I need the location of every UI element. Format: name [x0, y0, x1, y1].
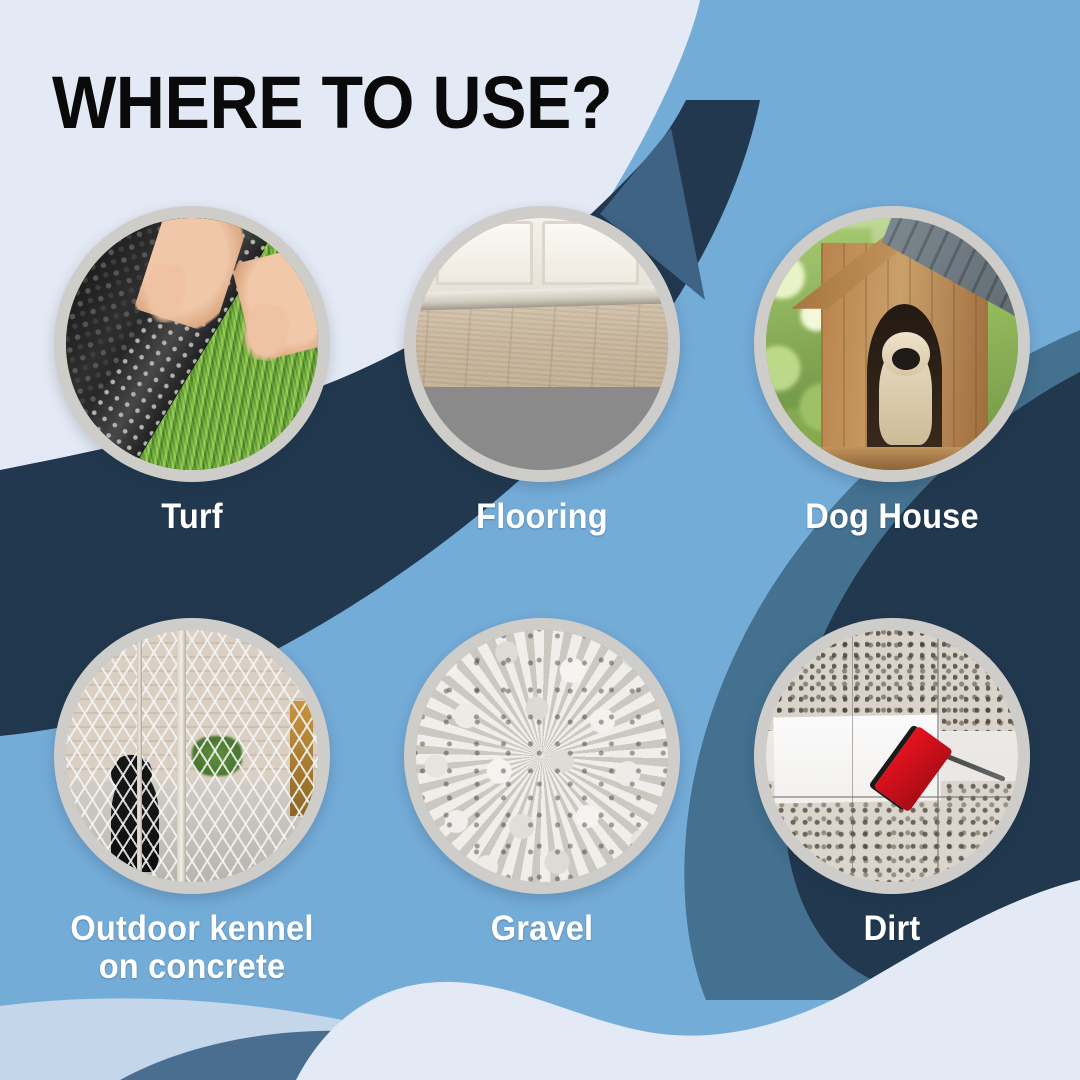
pug-dog	[879, 344, 932, 445]
artificial-turf-with-drainage-mat-photo	[66, 218, 318, 470]
grout-line-vertical-1	[852, 630, 853, 882]
flooring-photo-frame[interactable]	[404, 206, 680, 482]
pug-in-wooden-dog-house-photo	[766, 218, 1018, 470]
use-case-item-gravel[interactable]: Gravel	[362, 618, 722, 948]
gravel-photo-frame[interactable]	[404, 618, 680, 894]
kennel-post-main	[177, 630, 186, 882]
wood-laminate-flooring-photo	[416, 218, 668, 470]
white-cabinets	[416, 218, 668, 296]
dirt-photo-frame[interactable]	[754, 618, 1030, 894]
use-case-label-outdoor-kennel-line1: Outdoor kennel	[25, 910, 360, 948]
dog-house-photo-frame[interactable]	[754, 206, 1030, 482]
use-case-label-outdoor-kennel: Outdoor kennel on concrete	[25, 910, 360, 986]
dog-house-floor-board	[816, 447, 997, 470]
use-case-item-outdoor-kennel[interactable]: Outdoor kennel on concrete	[12, 618, 372, 986]
gravel-shadow-speckle	[416, 630, 668, 882]
outdoor-kennel-photo-frame[interactable]	[54, 618, 330, 894]
use-case-item-dog-house[interactable]: Dog House	[712, 206, 1072, 536]
use-case-label-outdoor-kennel-line2: on concrete	[25, 948, 360, 986]
use-case-label-turf: Turf	[25, 498, 360, 536]
use-case-item-dirt[interactable]: Dirt	[712, 618, 1072, 948]
use-case-label-flooring: Flooring	[375, 498, 710, 536]
turf-photo-frame[interactable]	[54, 206, 330, 482]
chain-link-mesh	[66, 630, 318, 882]
use-case-item-turf[interactable]: Turf	[12, 206, 372, 536]
use-case-grid: Turf Flooring	[0, 0, 1080, 1080]
right-hand	[231, 244, 318, 363]
white-crushed-gravel-photo	[416, 630, 668, 882]
use-case-item-flooring[interactable]: Flooring	[362, 206, 722, 536]
use-case-label-gravel: Gravel	[375, 910, 710, 948]
squeegee-cleaning-dirty-tile-photo	[766, 630, 1018, 882]
infographic-canvas: WHERE TO USE? Turf	[0, 0, 1080, 1080]
kennel-post-secondary	[137, 630, 143, 882]
chain-link-kennel-photo	[66, 630, 318, 882]
use-case-label-dirt: Dirt	[725, 910, 1060, 948]
use-case-label-dog-house: Dog House	[725, 498, 1060, 536]
